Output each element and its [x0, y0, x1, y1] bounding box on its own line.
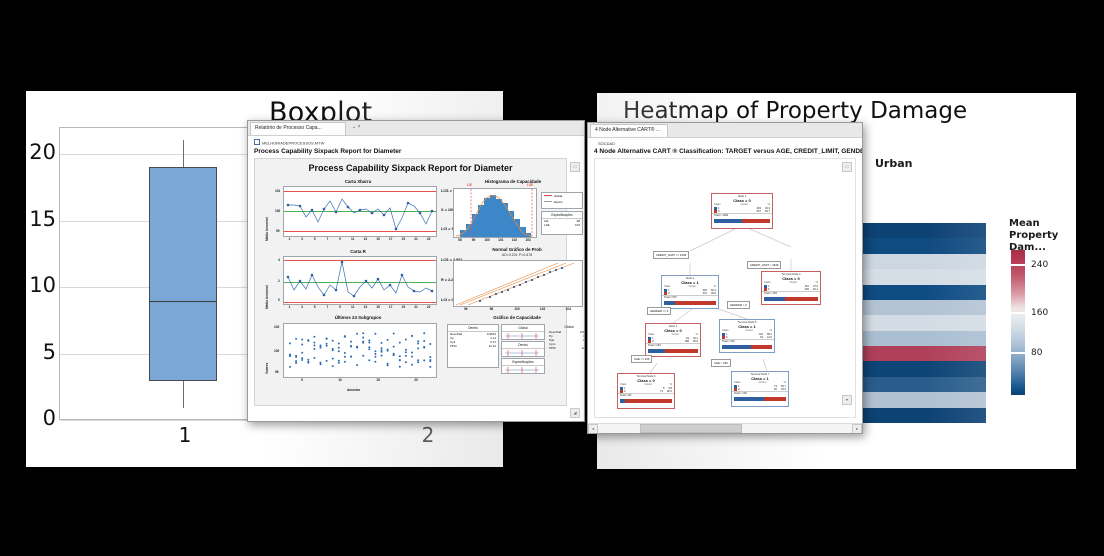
spec-lse-label: LSE: [544, 223, 550, 227]
x-tick: 9: [339, 305, 341, 309]
x-tick: 103: [525, 238, 530, 242]
tab-process-capability[interactable]: Relatório de Processo Capa...: [250, 122, 346, 135]
y-tick-5: 5: [26, 340, 56, 364]
rchart-series: [284, 257, 436, 304]
xbar-chart-title: Carta Xbarra: [263, 179, 453, 184]
x-tick: 102: [512, 238, 517, 242]
capability-within-marker: Dentro: [501, 341, 545, 357]
cart-split-label[interactable]: CREDIT_LIMIT > 1546: [747, 261, 781, 269]
rchart-x-ticks: 1357911131517192123: [283, 305, 435, 311]
within-ppm-label: PPM: [450, 344, 457, 348]
x-tick: 1: [288, 305, 290, 309]
probplot-subtitle: AD=0.201 P=0.878: [453, 253, 581, 257]
report-title: Process Capability Sixpack Report for Di…: [255, 159, 566, 175]
rchart-y-tick-4: 4: [278, 258, 280, 262]
cart-window-body: SOCDAD 4 Node Alternative CART ® Classif…: [588, 138, 862, 434]
xbar-plot: [283, 186, 437, 237]
cart-node-total: Total = 82: [618, 393, 674, 397]
x-tick-2: 2: [408, 423, 448, 447]
x-tick: 19: [402, 305, 406, 309]
xbar-y-tick-99: 99: [276, 229, 280, 233]
within-title: Dentro: [448, 325, 498, 332]
x-tick: 98: [490, 307, 494, 311]
x-tick: 7: [326, 305, 328, 309]
heatmap-legend: Mean Property Dam... 240 160 80: [1009, 218, 1071, 254]
x-tick: 17: [389, 237, 393, 241]
x-tick: 23: [427, 305, 431, 309]
lastsub-title: Últimos 24 Subgrupos: [263, 315, 453, 320]
rchart-y-tick-2: 2: [278, 279, 280, 283]
x-tick-1: 1: [165, 423, 205, 447]
cart-node-bar: [714, 219, 770, 223]
y-tick-15: 15: [26, 207, 56, 231]
histogram-spec-lse: LSE: [527, 183, 533, 187]
canvas-expand-button[interactable]: □: [570, 162, 580, 172]
x-tick: 104: [566, 307, 571, 311]
cart-node-bar: [764, 297, 818, 301]
cart-worksheet-line: SOCDAD: [588, 138, 862, 146]
cart-node-bar: [734, 397, 786, 401]
cart-split-label[interactable]: AGE > 235: [711, 359, 731, 367]
histogram-bars: [454, 189, 536, 237]
colorbar: [1011, 250, 1025, 395]
tab-controls[interactable]: ⌄ ×: [352, 124, 361, 130]
histogram-spec-table: Especificações LIE98 LSE103: [541, 211, 583, 235]
cart-node-bar: [664, 301, 716, 305]
x-tick: 21: [414, 305, 418, 309]
x-tick: 17: [389, 305, 393, 309]
median-line: [149, 301, 217, 302]
xbar-y-tick-101: 101: [275, 189, 280, 193]
capability-overall-marker: Global: [501, 324, 545, 340]
y-tick-10: 10: [26, 273, 56, 297]
x-tick: 20: [414, 378, 418, 382]
worksheet-name: MELHORIADEPROCESSOS.MTW: [262, 141, 324, 146]
x-tick: 98: [458, 238, 462, 242]
lastsub-y-tick-98: 98: [275, 370, 279, 374]
cart-split-label[interactable]: CREDIT_LIMIT <= 1546: [653, 251, 689, 259]
spec-lse-value: 103: [575, 223, 580, 227]
whisker-upper: [183, 140, 184, 167]
legend-title-line1: Mean: [1009, 218, 1071, 230]
x-tick: 15: [376, 237, 380, 241]
within-marker-title: Dentro: [502, 342, 544, 349]
x-tick: 1: [288, 237, 290, 241]
cart-scroll-thumb[interactable]: [640, 424, 742, 433]
worksheet-line: MELHORIADEPROCESSOS.MTW: [248, 136, 584, 146]
colorbar-label-80: 80: [1031, 348, 1042, 358]
cart-node-total: Total = 281: [646, 343, 700, 347]
capability-overall-table: Global DesvPad0.9873 Pp1.08 Ppk0.36 Cpm*…: [547, 324, 585, 372]
cart-horizontal-scrollbar[interactable]: ◂ ▸: [588, 423, 862, 433]
overall-ppm-label: PPM: [549, 346, 556, 350]
y-tick-0: 0: [26, 406, 56, 430]
cart-node-bar: [722, 345, 772, 349]
cart-split-label[interactable]: GENDER <= 0: [647, 307, 671, 315]
y-tick-20: 20: [26, 140, 56, 164]
histogram-spec-lie: LIE: [467, 183, 472, 187]
cart-scroll-right-button[interactable]: ▸: [852, 424, 862, 434]
cart-node[interactable]: Node 4Class = 0ClassCount%19333.1018866.…: [645, 323, 701, 357]
cart-node[interactable]: Node 2Class = 1ClassCount%130660.4020139…: [661, 275, 719, 309]
legend-dentro: Dentro: [554, 200, 562, 204]
spec-table-title: Especificações: [542, 212, 582, 219]
cart-node-total: Total = 1000: [712, 213, 772, 217]
probplot-points: [454, 261, 582, 306]
cart-node-total: Total = 129: [732, 391, 788, 395]
legend-global: Global: [554, 194, 562, 198]
x-tick: 9: [339, 237, 341, 241]
cart-node-total: Total = 507: [662, 295, 718, 299]
whisker-lower: [183, 381, 184, 408]
lastsub-plot: [283, 323, 437, 378]
colorbar-label-240: 240: [1031, 260, 1048, 270]
xbar-x-ticks: 1357911131517192123: [283, 237, 435, 243]
x-tick: 5: [314, 237, 316, 241]
colorbar-tickmark-80: [1011, 352, 1025, 354]
probplot-plot: [453, 260, 583, 307]
cart-classification-window[interactable]: 4 Node Alternative CART® ... SOCDAD 4 No…: [587, 122, 863, 434]
lastsub-y-axis-label: Valores: [265, 362, 269, 373]
x-tick: 100: [514, 307, 519, 311]
x-tick: 15: [376, 378, 380, 382]
box-category-1: [149, 167, 217, 381]
rchart-stat-lci: LCI = 0: [441, 298, 454, 302]
capability-spec-marker: Especificações: [501, 358, 545, 374]
colorbar-tickmark-160: [1011, 312, 1025, 314]
lastsub-y-tick-100: 100: [274, 349, 279, 353]
xbar-series: [284, 187, 436, 236]
cart-canvas: Node 1Class = 0ClassCount%149349.3050750…: [594, 158, 856, 418]
x-tick: 99: [472, 238, 476, 242]
report-heading: Process Capability Sixpack Report for Di…: [248, 146, 584, 158]
lastsub-x-axis-label: Amostra: [347, 388, 360, 392]
window-tabbar: Relatório de Processo Capa... ⌄ ×: [248, 121, 584, 136]
cart-node[interactable]: Terminal Node 7Class = 1ClassCount%17356…: [731, 371, 789, 407]
overall-ppm-value: 12.01: [581, 346, 585, 350]
rchart-y-tick-0: 0: [278, 298, 280, 302]
x-tick: 7: [326, 237, 328, 241]
cart-node[interactable]: Terminal Node 5Class = 1ClassCount%11325…: [719, 319, 775, 353]
cart-heading: 4 Node Alternative CART ® Classification…: [588, 146, 862, 158]
histogram-plot: [453, 188, 537, 238]
histogram-legend: Global Dentro: [541, 192, 583, 209]
x-tick: 11: [351, 305, 354, 309]
rchart-title: Carta R: [263, 249, 453, 254]
x-tick: 101: [498, 238, 503, 242]
x-tick: 13: [364, 305, 368, 309]
x-tick: 100: [484, 238, 489, 242]
x-tick: 3: [301, 305, 303, 309]
x-tick: 13: [364, 237, 368, 241]
colorbar-tickmark-240: [1011, 264, 1025, 266]
xbar-y-tick-100: 100: [275, 209, 280, 213]
lastsub-x-ticks: 5101520: [283, 378, 435, 384]
cart-canvas-scroll-down[interactable]: ▾: [842, 395, 852, 405]
rchart-plot: [283, 256, 437, 305]
heatmap-column-label-urban: Urban: [875, 157, 913, 170]
tab-cart[interactable]: 4 Node Alternative CART® ...: [590, 124, 668, 137]
x-tick: 102: [540, 307, 545, 311]
cart-window-tabbar: 4 Node Alternative CART® ...: [588, 123, 862, 138]
worksheet-icon: [254, 139, 260, 145]
x-tick: 10: [338, 378, 342, 382]
x-tick: 96: [464, 307, 468, 311]
x-tick: 3: [301, 237, 303, 241]
x-tick: 21: [414, 237, 418, 241]
process-capability-window[interactable]: Relatório de Processo Capa... ⌄ × MELHOR…: [247, 120, 585, 422]
overall-marker-title: Global: [502, 325, 544, 332]
overall-ppk-value: 0.36: [583, 338, 585, 342]
cart-node-total: Total = 226: [720, 339, 774, 343]
within-ppm-value: 11.43: [489, 344, 496, 348]
heatmap-title: Heatmap of Property Damage: [623, 98, 967, 124]
x-tick: 19: [402, 237, 406, 241]
histogram-x-ticks: 9899100101102103: [453, 238, 535, 244]
screenshot-stage: Boxplot 20 15 10 5 0 1 2: [0, 0, 1104, 556]
x-tick: 5: [301, 378, 303, 382]
lastsub-y-tick-102: 102: [274, 325, 279, 329]
cart-node[interactable]: Terminal Node 6Class = 0ClassCount%189.8…: [617, 373, 675, 409]
cart-split-label[interactable]: AGE <= 235: [631, 355, 652, 363]
cart-split-label[interactable]: GENDER > 0: [727, 301, 750, 309]
spec-marker-title: Especificações: [502, 359, 544, 366]
cart-node[interactable]: Node 1Class = 0ClassCount%149349.3050750…: [711, 193, 773, 229]
cart-node[interactable]: Terminal Node 3Class = 0ClassCount%11873…: [761, 271, 821, 305]
window-body: MELHORIADEPROCESSOS.MTW Process Capabili…: [248, 136, 584, 422]
x-tick: 5: [314, 305, 316, 309]
capability-within-table: Dentro DesvPad0.9544 Cp1.11 Cpk0.37 PPM1…: [447, 324, 499, 368]
x-tick: 23: [427, 237, 431, 241]
probplot-x-ticks: 9698100102104: [453, 307, 581, 313]
xbar-y-axis-label: Média Amostral: [265, 217, 269, 241]
x-tick: 15: [376, 305, 380, 309]
canvas-resize-grip[interactable]: ◢: [570, 408, 580, 418]
cart-node-bar: [620, 399, 672, 403]
report-canvas: Process Capability Sixpack Report for Di…: [254, 158, 567, 406]
colorbar-label-160: 160: [1031, 308, 1048, 318]
cart-node-bar: [648, 349, 698, 353]
capability-title: Gráfico de Capacidade: [453, 315, 581, 320]
cart-scroll-left-button[interactable]: ◂: [588, 424, 598, 434]
rchart-y-axis-label: Média Amostral: [265, 285, 269, 309]
cart-node-total: Total = 493: [762, 291, 820, 295]
x-tick: 11: [351, 237, 354, 241]
cart-canvas-expand-button[interactable]: □: [842, 162, 852, 172]
probplot-title: Normal Gráfico de Prob: [453, 247, 581, 252]
lastsub-points: [284, 324, 436, 377]
